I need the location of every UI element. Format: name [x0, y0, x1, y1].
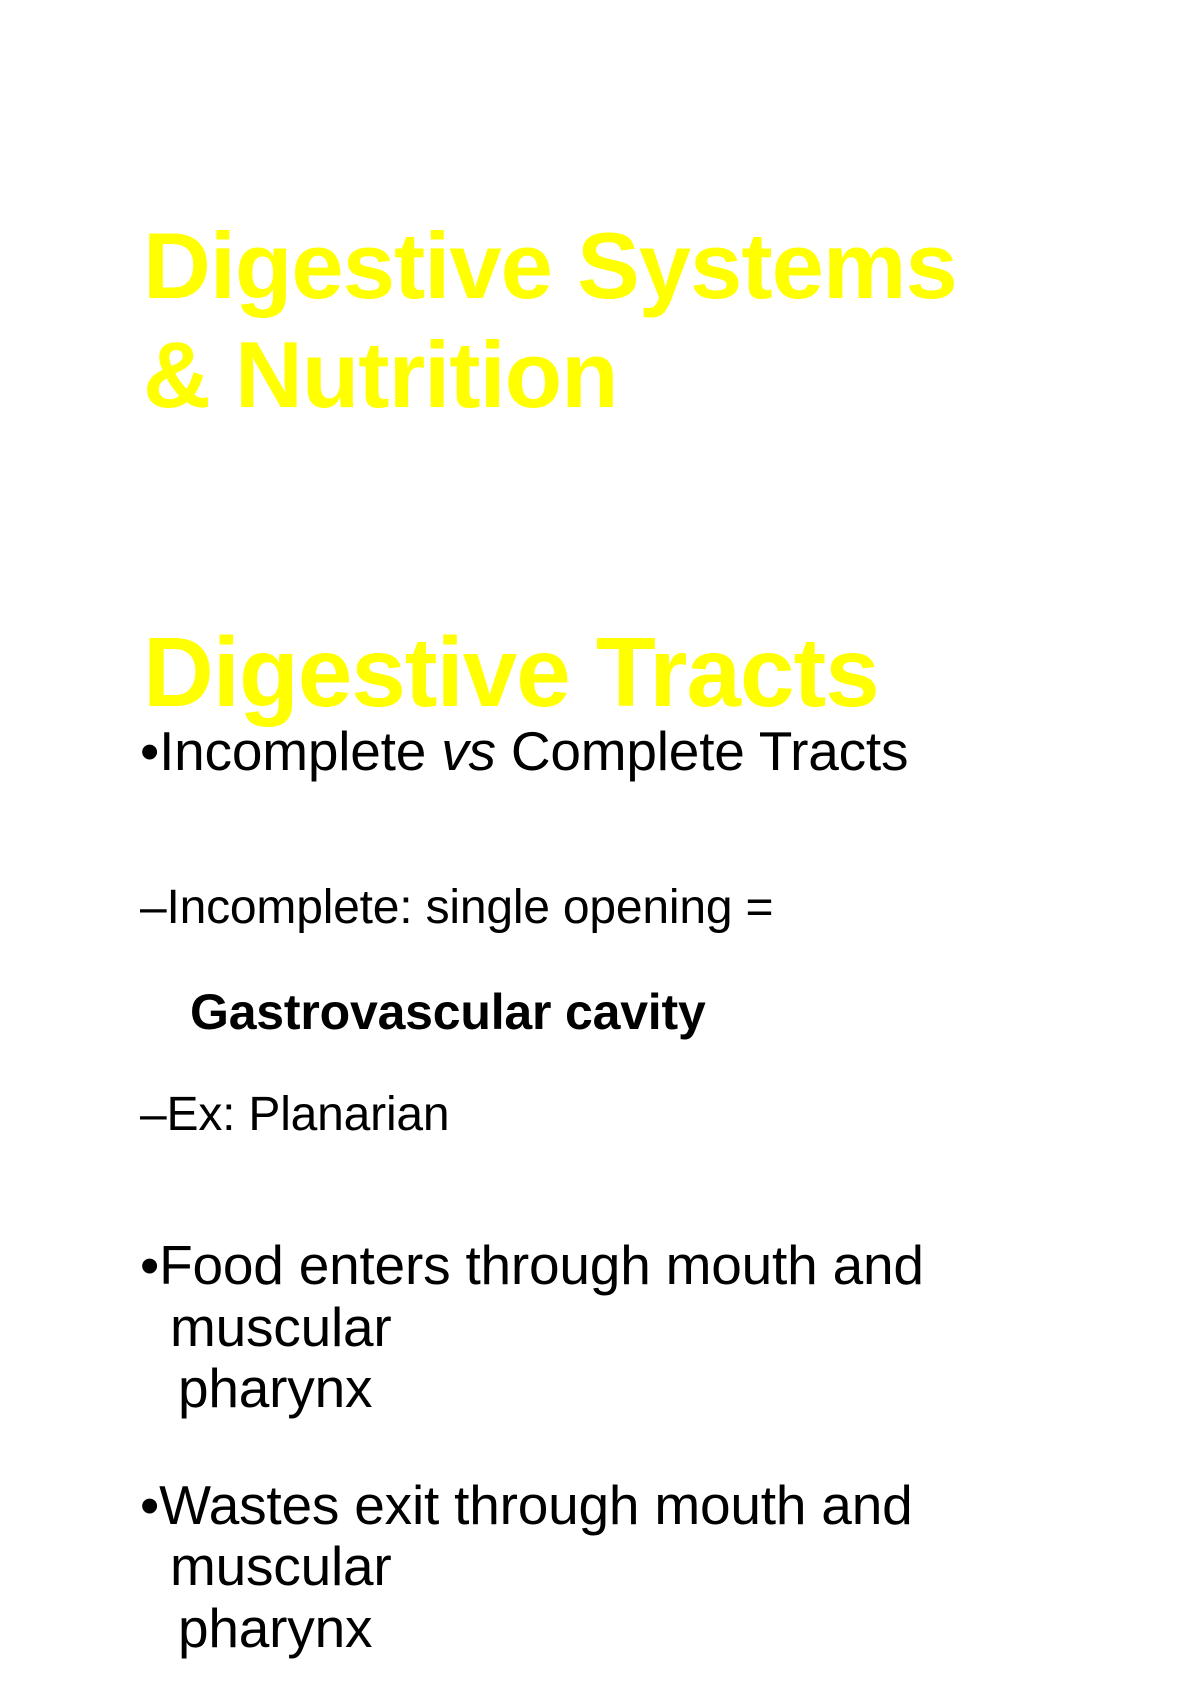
list-item: •Food enters through mouth and muscular … — [140, 1235, 1040, 1420]
bullet-dash-icon: – — [140, 881, 167, 934]
list-item: •Incomplete vs Complete Tracts — [140, 721, 1040, 783]
bullet-dot-icon: • — [140, 720, 159, 782]
list-item-text-wrap: pharynx — [170, 1598, 1040, 1660]
spacer — [140, 811, 1040, 833]
sub-list-item: –Ex: Planarian — [140, 1088, 1040, 1142]
list-item-text: Incomplete — [159, 720, 441, 782]
list-item-text-cont: Complete Tracts — [496, 720, 909, 782]
bullet-list: •Incomplete vs Complete Tracts –Incomple… — [140, 666, 1040, 1688]
list-item-emphasis: vs — [441, 720, 496, 782]
list-item: •Wastes exit through mouth and muscular … — [140, 1475, 1040, 1660]
sub-list-item: –Incomplete: single opening = — [140, 881, 1040, 935]
list-item-text-wrap: pharynx — [170, 1358, 1040, 1420]
bullet-dot-icon: • — [140, 1234, 159, 1296]
list-item-text: Food enters through mouth and muscular — [159, 1234, 924, 1358]
slide-page: Digestive Systems & Nutrition Digestive … — [0, 0, 1200, 1553]
list-item-text: Wastes exit through mouth and muscular — [159, 1474, 912, 1598]
sub-list-item-text: Ex: Planarian — [167, 1088, 450, 1141]
bullet-dot-icon: • — [140, 1474, 159, 1536]
definition-term: Gastrovascular cavity — [140, 984, 1040, 1040]
bullet-dash-icon: – — [140, 1088, 167, 1141]
spacer — [140, 1168, 1040, 1180]
sub-list-item-text: Incomplete: single opening = — [167, 881, 774, 934]
page-title: Digestive Systems & Nutrition — [143, 211, 1143, 429]
